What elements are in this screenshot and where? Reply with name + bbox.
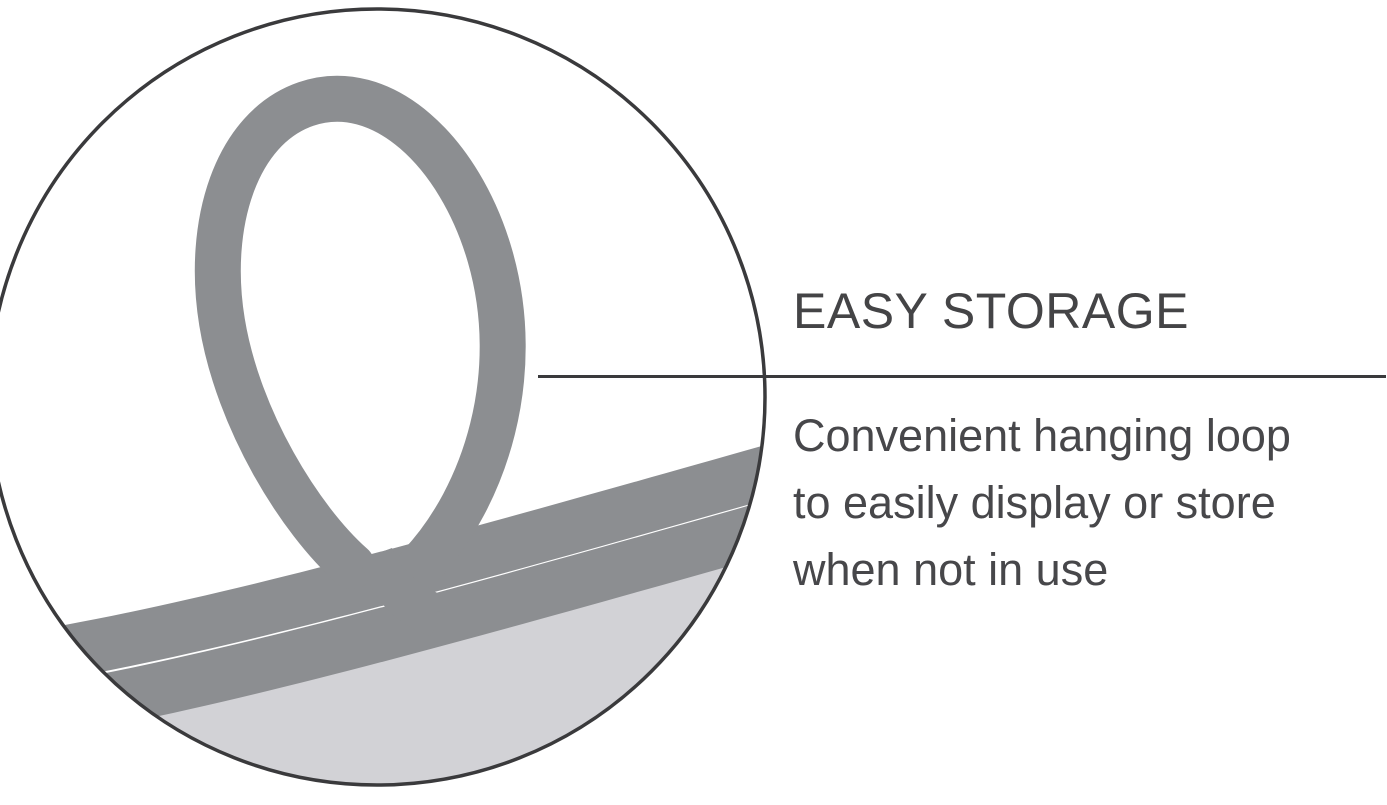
feature-title: EASY STORAGE [793, 286, 1373, 336]
feature-description-line-2: to easily display or store [793, 469, 1368, 536]
callout-leader-line [538, 375, 1386, 378]
callout-text-block: EASY STORAGE [793, 286, 1373, 336]
feature-description-line-1: Convenient hanging loop [793, 402, 1368, 469]
feature-description: Convenient hanging loop to easily displa… [793, 402, 1368, 603]
feature-description-line-3: when not in use [793, 536, 1368, 603]
infographic-callout: EASY STORAGE Convenient hanging loop to … [0, 0, 1387, 805]
